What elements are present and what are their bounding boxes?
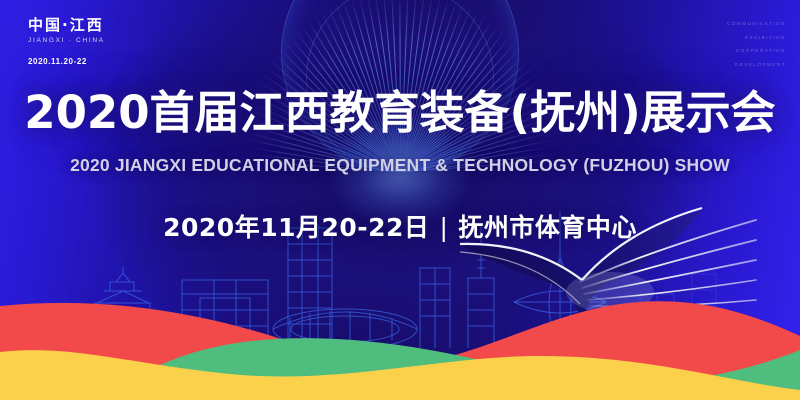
keyword-item-3: DEVELOPMENT [727, 63, 786, 68]
dateline-separator: | [429, 213, 458, 242]
event-poster: 中国·江西 JIANGXI · CHINA 2020.11.20-22 COMM… [0, 0, 800, 400]
bottom-color-waves [0, 260, 800, 400]
keyword-list: COMMUNICATIONEXHIBITIONCOOPERATIONDEVELO… [727, 22, 786, 76]
region-logo: 中国·江西 JIANGXI · CHINA 2020.11.20-22 [28, 17, 160, 66]
logo-date-text: 2020.11.20-22 [28, 57, 160, 66]
keyword-item-1: EXHIBITION [727, 36, 786, 41]
logo-chinese-text: 中国·江西 [28, 17, 160, 34]
keyword-item-0: COMMUNICATION [727, 22, 786, 27]
event-date: 2020年11月20-22日 [163, 213, 429, 242]
poster-subheadline: 2020 JIANGXI EDUCATIONAL EQUIPMENT & TEC… [0, 155, 800, 176]
logo-english-text: JIANGXI · CHINA [28, 37, 160, 44]
keyword-item-2: COOPERATION [727, 49, 786, 54]
poster-headline: 2020首届江西教育装备(抚州)展示会 [0, 90, 800, 135]
